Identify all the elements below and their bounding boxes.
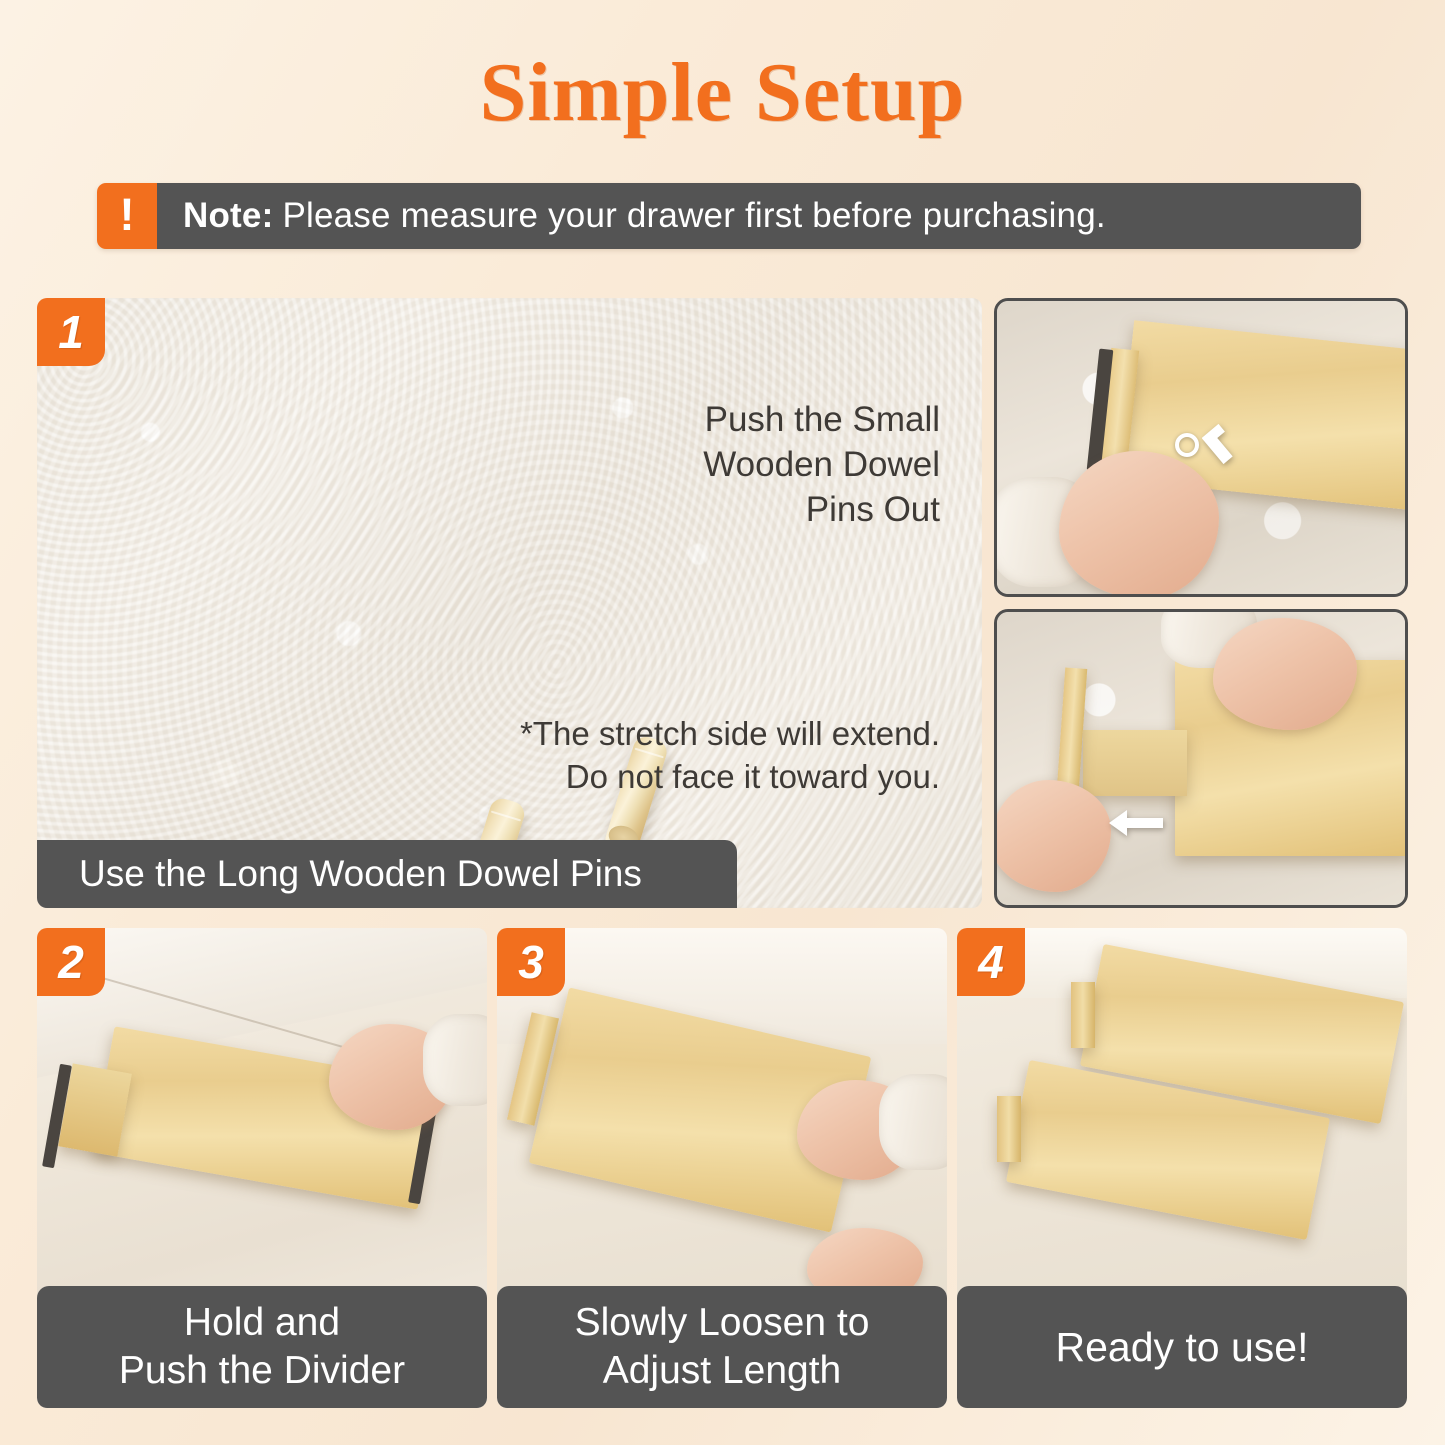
step-1-block: Push the Small Wooden Dowel Pins Out *Th… bbox=[37, 298, 1408, 908]
step-2-caption: Hold and Push the Divider bbox=[37, 1286, 487, 1408]
sweater-sleeve bbox=[423, 1014, 487, 1106]
annotation-line: Push the Small bbox=[703, 398, 940, 443]
push-dowel-pin-out-photo bbox=[994, 298, 1408, 597]
arrow-up-left-icon bbox=[1202, 423, 1248, 465]
step-1-warning-note: *The stretch side will extend. Do not fa… bbox=[520, 713, 940, 799]
hand bbox=[994, 780, 1111, 892]
note-banner: ! Note: Please measure your drawer first… bbox=[97, 183, 1361, 249]
note-label: Note: bbox=[183, 196, 273, 236]
annotation-line: Pins Out bbox=[703, 488, 940, 533]
steps-row: 2 Hold and Push the Divider 3 Slowly Loo… bbox=[0, 928, 1445, 1408]
hand bbox=[1059, 451, 1219, 597]
infographic-page: Simple Setup ! Note: Please measure your… bbox=[0, 0, 1445, 1445]
step-badge-2: 2 bbox=[37, 928, 105, 996]
step-3-photo: 3 Slowly Loosen to Adjust Length bbox=[497, 928, 947, 1408]
step-badge-1: 1 bbox=[37, 298, 105, 366]
step-badge-3: 3 bbox=[497, 928, 565, 996]
extend-stretch-side-photo bbox=[994, 609, 1408, 908]
step-3-caption: Slowly Loosen to Adjust Length bbox=[497, 1286, 947, 1408]
warning-line: Do not face it toward you. bbox=[520, 756, 940, 799]
step-4-caption: Ready to use! bbox=[957, 1286, 1407, 1408]
arrow-left-icon bbox=[1109, 808, 1163, 838]
step-4-photo: 4 Ready to use! bbox=[957, 928, 1407, 1408]
caption-line: Slowly Loosen to bbox=[575, 1299, 870, 1347]
caption-line: Hold and bbox=[119, 1299, 405, 1347]
dowel-pin-highlight-icon bbox=[1175, 433, 1199, 457]
step-badge-4: 4 bbox=[957, 928, 1025, 996]
step-2-photo: 2 Hold and Push the Divider bbox=[37, 928, 487, 1408]
bamboo-end-post bbox=[997, 1096, 1021, 1162]
note-text: Note: Please measure your drawer first b… bbox=[157, 183, 1361, 249]
exclamation-icon: ! bbox=[97, 183, 157, 249]
annotation-line: Wooden Dowel bbox=[703, 443, 940, 488]
bamboo-slide-rail bbox=[1083, 730, 1187, 796]
hand bbox=[1213, 618, 1357, 730]
caption-line: Ready to use! bbox=[1056, 1322, 1309, 1372]
step-1-caption: Use the Long Wooden Dowel Pins bbox=[37, 840, 737, 908]
step-1-annotation: Push the Small Wooden Dowel Pins Out bbox=[703, 398, 940, 532]
page-title: Simple Setup bbox=[0, 44, 1445, 141]
warning-line: *The stretch side will extend. bbox=[520, 713, 940, 756]
note-body: Please measure your drawer first before … bbox=[282, 196, 1105, 236]
step-1-main-photo: Push the Small Wooden Dowel Pins Out *Th… bbox=[37, 298, 982, 908]
caption-line: Push the Divider bbox=[119, 1347, 405, 1395]
caption-line: Adjust Length bbox=[575, 1347, 870, 1395]
bamboo-end-post bbox=[1071, 982, 1095, 1048]
sweater-sleeve bbox=[879, 1074, 947, 1170]
